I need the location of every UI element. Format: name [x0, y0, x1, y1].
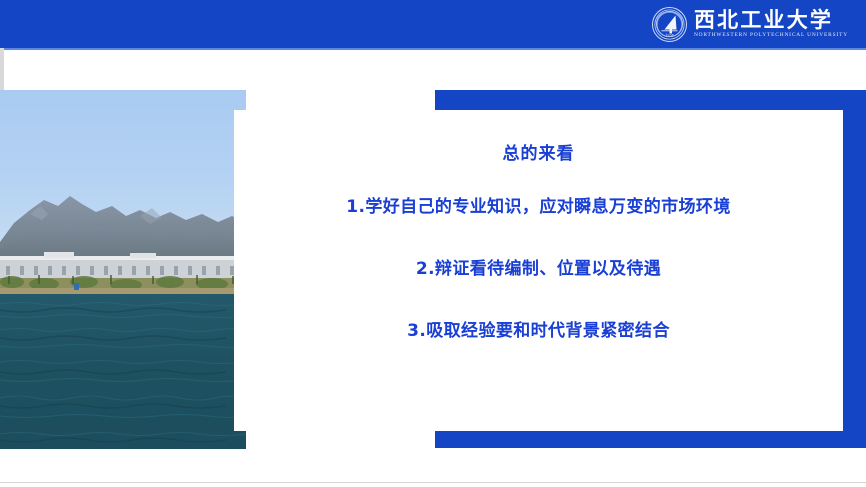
- university-name-en: NORTHWESTERN POLYTECHNICAL UNIVERSITY: [694, 33, 848, 38]
- university-seal-icon: 1938: [652, 7, 687, 42]
- list-item: 1.学好自己的专业知识，应对瞬息万变的市场环境: [346, 192, 731, 217]
- card-title: 总的来看: [503, 139, 575, 164]
- header-underline: [0, 48, 866, 50]
- presentation-slide: 1938 西北工业大学 NORTHWESTERN POLYTECHNICAL U…: [0, 0, 866, 487]
- university-name-block: 西北工业大学 NORTHWESTERN POLYTECHNICAL UNIVER…: [694, 9, 848, 38]
- svg-text:1938: 1938: [665, 33, 674, 37]
- accent-frame-top: [435, 90, 866, 112]
- page-edge-strip: [0, 48, 4, 90]
- list-item: 2.辩证看待编制、位置以及待遇: [416, 254, 661, 279]
- campus-lake-and-mountains-photo: [0, 90, 246, 449]
- university-logo: 1938 西北工业大学 NORTHWESTERN POLYTECHNICAL U…: [652, 5, 848, 43]
- list-item: 3.吸取经验要和时代背景紧密结合: [407, 316, 670, 341]
- footer-divider: [0, 482, 866, 483]
- university-name-cn: 西北工业大学: [694, 9, 848, 30]
- bullet-list: 1.学好自己的专业知识，应对瞬息万变的市场环境 2.辩证看待编制、位置以及待遇 …: [234, 192, 843, 341]
- accent-frame-bottom: [435, 431, 866, 448]
- content-card: 总的来看 1.学好自己的专业知识，应对瞬息万变的市场环境 2.辩证看待编制、位置…: [234, 110, 843, 431]
- accent-frame-right: [843, 90, 866, 448]
